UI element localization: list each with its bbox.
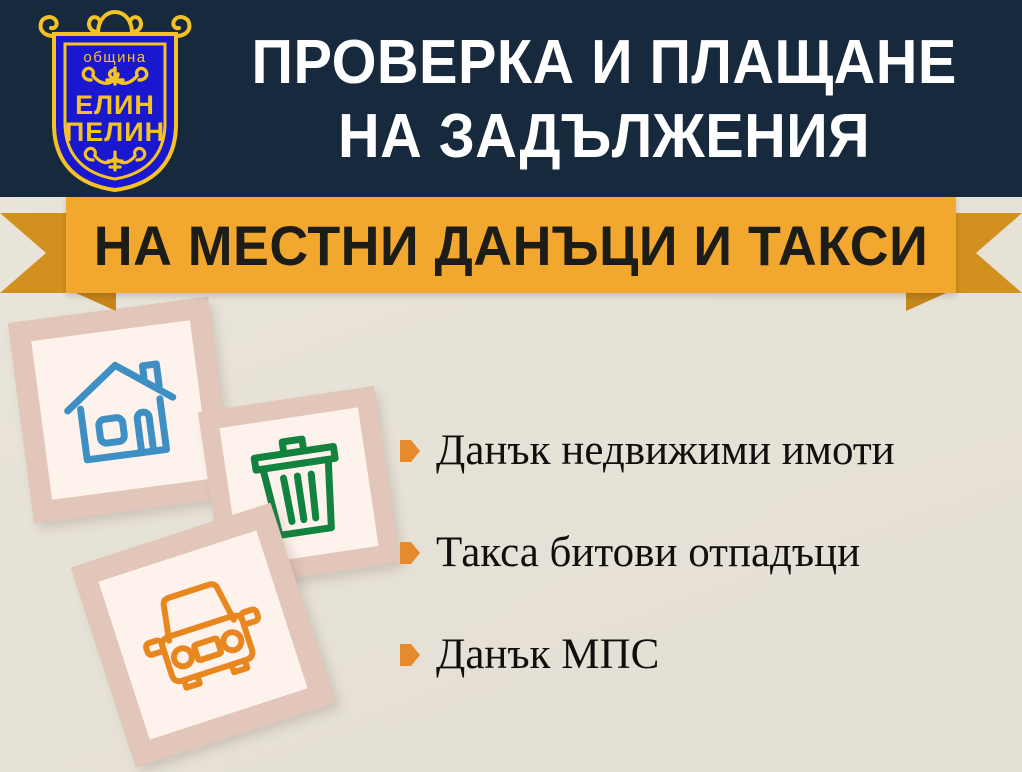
title-line-2: НА ЗАДЪЛЖЕНИЯ (338, 100, 870, 174)
stamp-card-property (8, 297, 235, 524)
list-item[interactable]: Данък МПС (400, 629, 1020, 681)
stamp-inner-surface (31, 320, 211, 500)
page-title: ПРОВЕРКА И ПЛАЩАНЕ НА ЗАДЪЛЖЕНИЯ (196, 14, 1012, 186)
tax-type-list: Данък недвижими имоти Такса битови отпад… (400, 425, 1020, 681)
arrow-bullet-icon (400, 542, 420, 564)
arrow-bullet-icon (400, 644, 420, 666)
list-item[interactable]: Такса битови отпадъци (400, 527, 1020, 579)
municipality-logo: община ЕЛИН ПЕЛИН (36, 4, 194, 194)
list-item-label: Такса битови отпадъци (436, 528, 860, 578)
svg-text:ПЕЛИН: ПЕЛИН (65, 117, 165, 147)
car-icon (128, 567, 277, 702)
ribbon-fold-right (906, 293, 946, 311)
stamp-inner-surface (98, 530, 307, 739)
arrow-bullet-icon (400, 440, 420, 462)
title-line-1: ПРОВЕРКА И ПЛАЩАНЕ (251, 26, 956, 100)
list-item-label: Данък недвижими имоти (436, 426, 895, 476)
ribbon-fold-left (76, 293, 116, 311)
svg-text:ЕЛИН: ЕЛИН (75, 90, 155, 120)
poster-canvas: община ЕЛИН ПЕЛИН (0, 0, 1022, 772)
list-item-label: Данък МПС (436, 630, 659, 680)
house-icon (55, 348, 186, 472)
subtitle-ribbon: НА МЕСТНИ ДАНЪЦИ И ТАКСИ (0, 197, 1022, 309)
list-item[interactable]: Данък недвижими имоти (400, 425, 1020, 477)
svg-text:община: община (83, 49, 146, 66)
ribbon-label: НА МЕСТНИ ДАНЪЦИ И ТАКСИ (84, 197, 938, 293)
stamp-card-group (0, 300, 420, 772)
